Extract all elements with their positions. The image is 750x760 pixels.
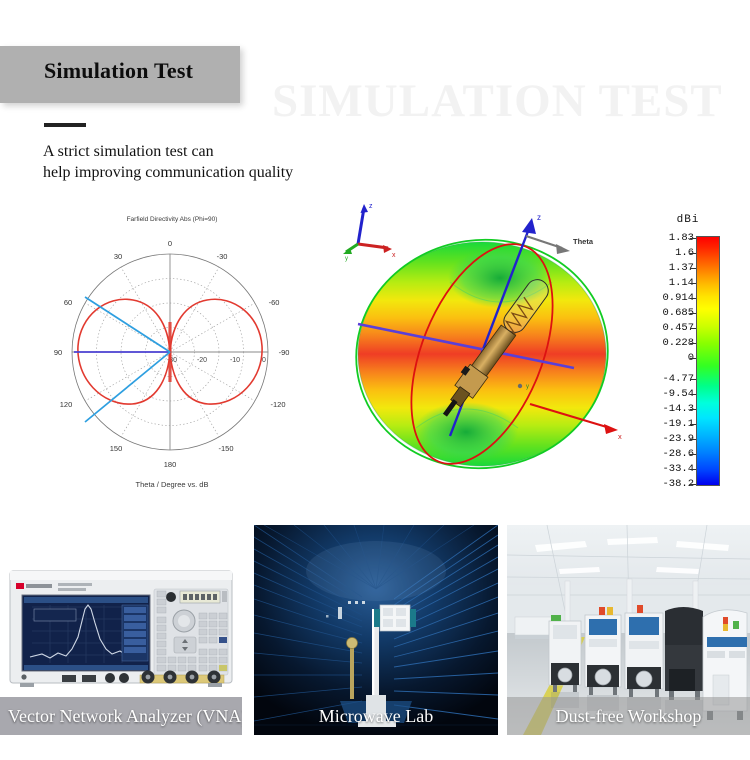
svg-text:-150: -150 [218, 444, 233, 453]
gallery-caption: Microwave Lab [254, 697, 498, 735]
gallery-caption-text: Vector Network Analyzer (VNA) [0, 706, 242, 727]
svg-text:90: 90 [54, 348, 62, 357]
svg-text:-120: -120 [270, 400, 285, 409]
colorbar-tick: 0.457 [640, 322, 696, 334]
farfield-3d-svg: z x y [330, 196, 650, 506]
gallery-item-microwave-lab[interactable]: Microwave Lab [254, 525, 498, 735]
axis-triad-icon: z x y [343, 203, 396, 262]
svg-text:y: y [345, 256, 348, 262]
colorbar-tick: -23.9 [640, 433, 696, 445]
colorbar-tick: 1.37 [640, 262, 696, 274]
svg-text:0: 0 [262, 357, 266, 364]
svg-text:150: 150 [110, 444, 123, 453]
theta-label: Theta [573, 237, 594, 246]
colorbar-tick: -38.2 [640, 478, 696, 490]
colorbar-tick: -19.1 [640, 418, 696, 430]
colorbar-tick: 1.6 [640, 247, 696, 259]
colorbar-unit-label: dBi [658, 214, 718, 226]
colorbar-tick-list: 1.83 1.6 1.37 1.14 0.914 0.685 0.457 0.2… [640, 236, 696, 484]
svg-text:30: 30 [114, 252, 122, 261]
polar-plot-svg: -30 -20 -10 0 0 30 -30 60 [22, 204, 322, 504]
svg-text:-30: -30 [217, 252, 228, 261]
colorbar-tick: 0 [640, 352, 696, 364]
page-subtitle: A strict simulation test can help improv… [43, 141, 293, 183]
colorbar-tick: -4.77 [640, 373, 696, 385]
svg-text:0: 0 [168, 239, 172, 248]
polar-plot: Farfield Directivity Abs (Phi=90) [22, 204, 322, 504]
gallery-item-dust-free-workshop[interactable]: Dust-free Workshop [507, 525, 750, 735]
colorbar-gradient [696, 236, 720, 486]
colorbar-tick: -14.3 [640, 403, 696, 415]
gallery-caption-text: Microwave Lab [319, 706, 433, 727]
svg-text:120: 120 [60, 400, 73, 409]
farfield-3d-plot: z x y [330, 196, 650, 506]
theta-annotation: Theta [526, 236, 594, 254]
svg-text:60: 60 [64, 298, 72, 307]
title-divider [44, 123, 86, 127]
svg-text:-20: -20 [197, 357, 207, 364]
svg-text:-60: -60 [269, 298, 280, 307]
header-section: Simulation Test SIMULATION TEST A strict… [0, 0, 750, 200]
watermark-text: SIMULATION TEST [272, 74, 723, 128]
colorbar-tick: 0.228 [640, 337, 696, 349]
gallery-caption: Vector Network Analyzer (VNA) [0, 697, 242, 735]
svg-text:-10: -10 [230, 357, 240, 364]
page-title: Simulation Test [44, 58, 193, 84]
gallery-caption-text: Dust-free Workshop [556, 706, 702, 727]
axis-label-y: y [526, 384, 529, 390]
colorbar-tick: -33.4 [640, 463, 696, 475]
axis-label-x: x [618, 432, 622, 441]
polar-plot-footer: Theta / Degree vs. dB [22, 480, 322, 489]
figures-section: Farfield Directivity Abs (Phi=90) [0, 196, 750, 516]
colorbar-tick: 1.14 [640, 277, 696, 289]
gallery-caption: Dust-free Workshop [507, 697, 750, 735]
colorbar-tick: 1.83 [640, 232, 696, 244]
gallery-strip: Vector Network Analyzer (VNA) [0, 525, 750, 735]
svg-text:-90: -90 [279, 348, 290, 357]
svg-text:x: x [392, 252, 396, 259]
colorbar-legend: dBi 1.83 1.6 1.37 1.14 0.914 0.685 0.457… [640, 214, 750, 504]
svg-text:180: 180 [164, 460, 177, 469]
colorbar-tick: -28.6 [640, 448, 696, 460]
svg-text:z: z [369, 203, 373, 210]
colorbar-tick: 0.914 [640, 292, 696, 304]
colorbar-tick: -9.54 [640, 388, 696, 400]
colorbar-tick: 0.685 [640, 307, 696, 319]
gallery-item-vna[interactable]: Vector Network Analyzer (VNA) [0, 525, 242, 735]
axis-label-z: z [537, 213, 541, 222]
